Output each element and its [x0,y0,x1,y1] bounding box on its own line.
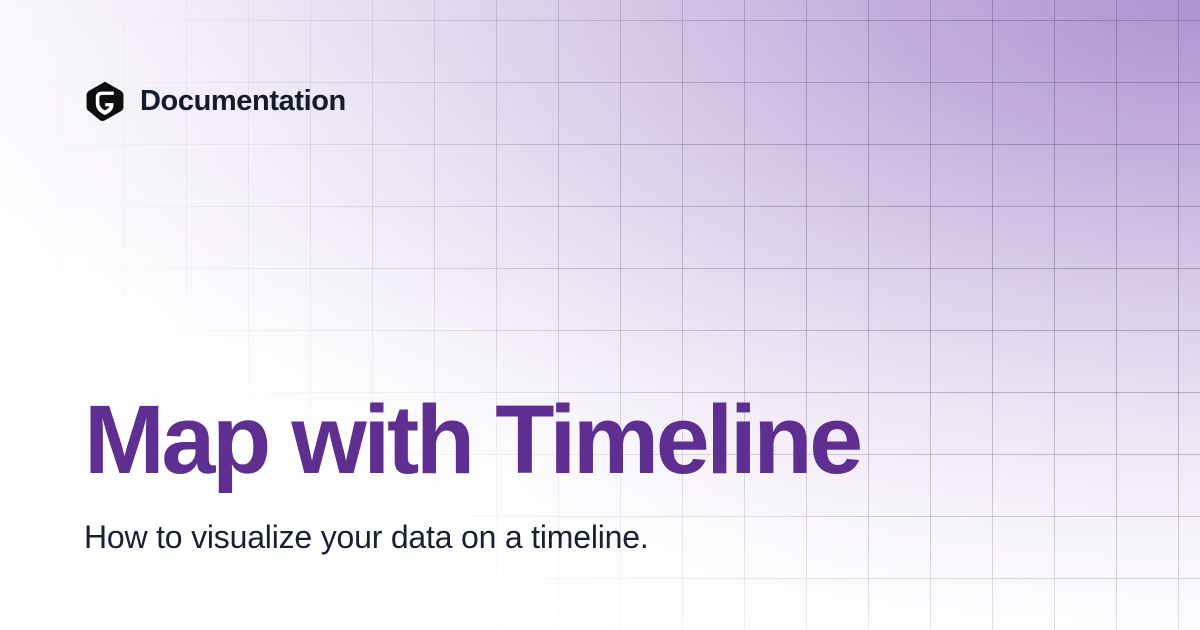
brand-lockup: Documentation [84,80,346,122]
brand-name-label: Documentation [140,87,346,116]
banner-content: Documentation Map with Timeline How to v… [0,0,1200,630]
og-banner: Documentation Map with Timeline How to v… [0,0,1200,630]
page-subtitle: How to visualize your data on a timeline… [84,518,1124,556]
hexagon-g-logo-icon [84,80,126,122]
page-title: Map with Timeline [84,391,1124,488]
hero-text-block: Map with Timeline How to visualize your … [84,391,1124,556]
